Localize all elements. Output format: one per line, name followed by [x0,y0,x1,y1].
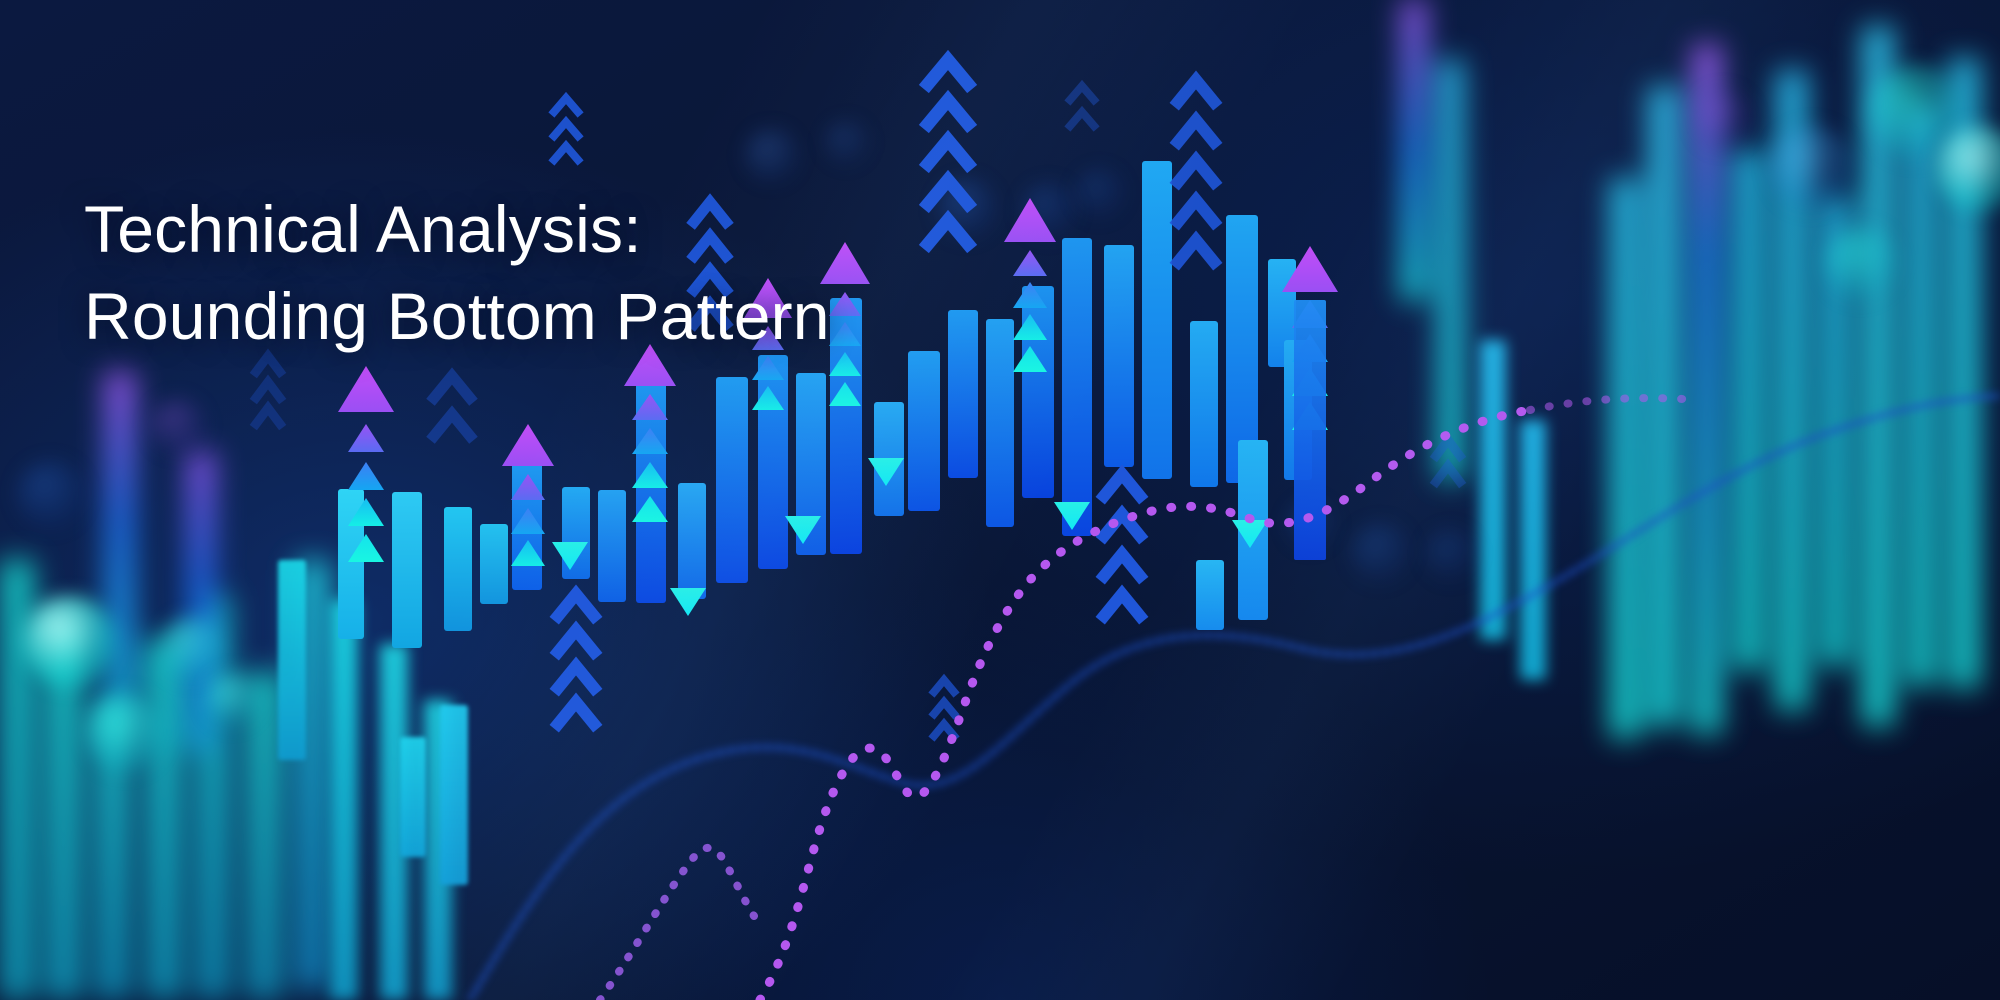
rounding-bottom-dotted-curve [0,0,2000,1000]
banner-image: Technical Analysis: Rounding Bottom Patt… [0,0,2000,1000]
page-title: Technical Analysis: Rounding Bottom Patt… [84,186,830,360]
